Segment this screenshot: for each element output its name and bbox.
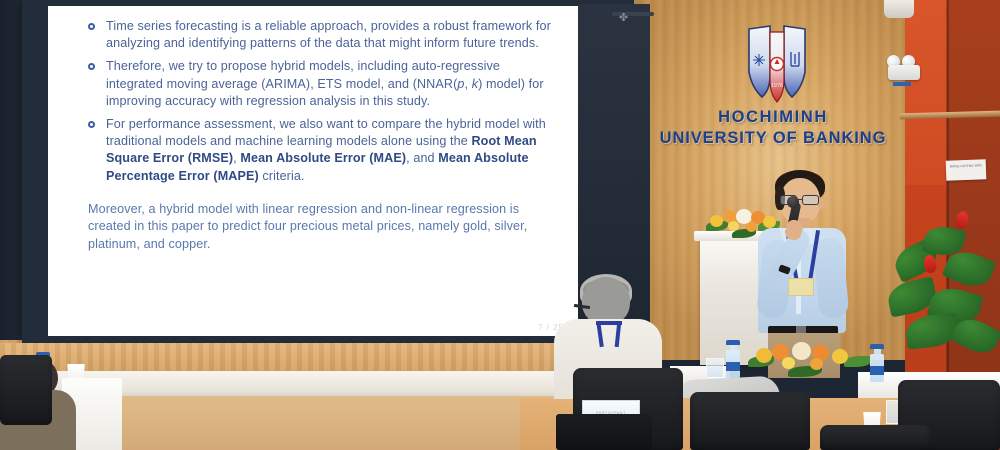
bullet-marker-icon — [88, 23, 95, 30]
eyeglass-lens-right — [802, 195, 819, 205]
audience-center-head — [582, 277, 630, 325]
drinking-glass-center — [706, 358, 724, 378]
slide-bullet-3-text: For performance assessment, we also want… — [106, 117, 546, 183]
water-bottle-right — [870, 344, 884, 382]
university-sign-line2: UNIVERSITY OF BANKING — [628, 129, 918, 148]
chair-right-mid — [690, 392, 810, 450]
slide-bullet-2-text: Therefore, we try to propose hybrid mode… — [106, 59, 544, 107]
slide-bullet-1-text: Time series forecasting is a reliable ap… — [106, 19, 551, 50]
emergency-light-stripe — [893, 82, 911, 86]
slide-bullet-2: Therefore, we try to propose hybrid mode… — [88, 58, 560, 110]
bullet-marker-icon — [88, 63, 95, 70]
table-flower-arrangement — [748, 340, 878, 382]
presenter — [742, 168, 872, 368]
slide-bullet-3: For performance assessment, we also want… — [88, 116, 560, 185]
wall-notice-sign: BẢNG HƯỚNG DẪN — [946, 159, 987, 180]
potted-plant — [884, 205, 1000, 375]
presentation-slide[interactable]: Time series forecasting is a reliable ap… — [48, 6, 578, 336]
slide-bullet-list: Time series forecasting is a reliable ap… — [88, 18, 560, 185]
plant-flower-upper — [954, 210, 969, 230]
wood-panel-below-screen — [0, 343, 640, 373]
emergency-light-icon — [884, 55, 922, 81]
university-sign: HOCHIMINH UNIVERSITY OF BANKING — [628, 108, 918, 148]
name-badge — [788, 278, 814, 296]
laptop — [556, 414, 652, 450]
bullet-marker-icon — [88, 121, 95, 128]
screen-mount-bracket-icon: ✤ — [618, 13, 629, 24]
university-sign-line1: HOCHIMINH — [628, 108, 918, 127]
logo-year-text: 1976 — [771, 83, 783, 89]
ceiling-light-fixture — [884, 0, 914, 18]
water-bottle-center — [726, 340, 740, 378]
chair-far-left — [0, 355, 52, 425]
slide-closing-paragraph: Moreover, a hybrid model with linear reg… — [88, 201, 560, 253]
presentation-photo-scene: BẢNG HƯỚNG DẪN — [0, 0, 1000, 450]
shield-crest-logo: 1976 — [746, 24, 808, 106]
emergency-light-body — [888, 65, 920, 80]
projection-screen-frame: ✤ Time series forecasting is a reliable … — [22, 0, 634, 343]
chair-foreground — [820, 425, 930, 450]
slide-bullet-1: Time series forecasting is a reliable ap… — [88, 18, 560, 52]
